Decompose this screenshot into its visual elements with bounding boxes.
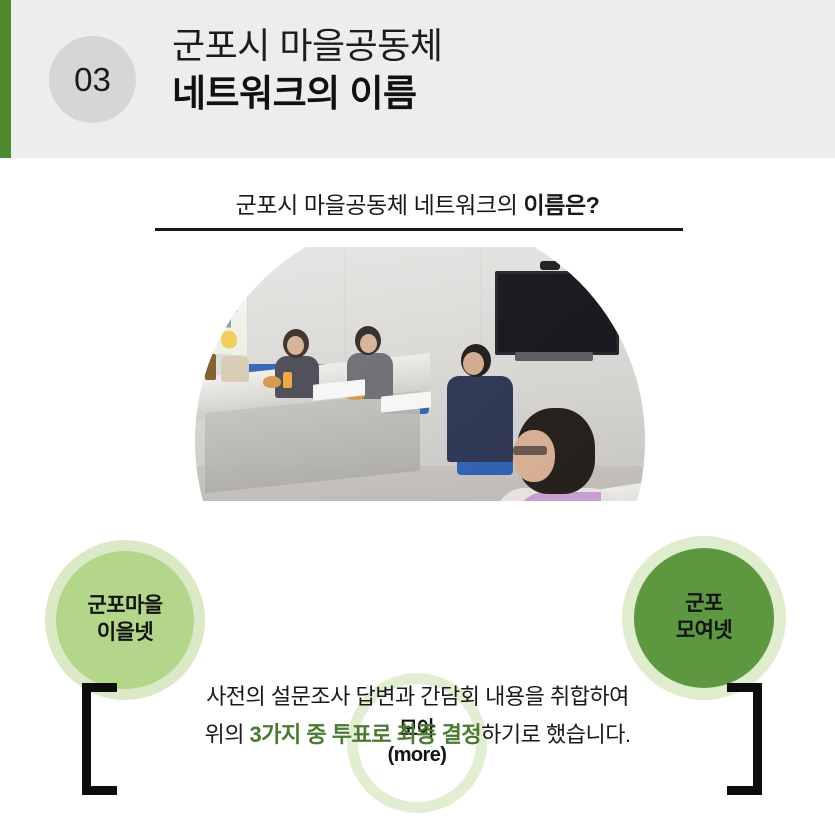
bracket-right-icon	[727, 683, 762, 795]
subtitle-prefix: 군포시 마을공동체 네트워크의	[236, 192, 524, 218]
option-left-line2: 이을넷	[88, 620, 163, 647]
footer-line-1: 사전의 설문조사 답변과 간담회 내용을 취합하여	[0, 678, 835, 716]
option-right-line1: 군포	[676, 591, 732, 618]
section-number-label: 03	[74, 63, 111, 96]
option-right-label: 군포 모여넷	[676, 591, 732, 645]
meeting-photo	[195, 247, 645, 501]
footer-note: 사전의 설문조사 답변과 간담회 내용을 취합하여 위의 3가지 중 투표로 최…	[0, 678, 835, 754]
option-right-line2: 모여넷	[676, 618, 732, 645]
footer-line2-suffix: 하기로 했습니다.	[481, 722, 630, 747]
subtitle-block: 군포시 마을공동체 네트워크의 이름은?	[0, 186, 835, 220]
subtitle-emphasis: 이름은?	[523, 192, 599, 218]
header-title-group: 군포시 마을공동체 네트워크의 이름	[172, 22, 442, 118]
page-title-line1: 군포시 마을공동체	[172, 22, 442, 70]
meeting-photo-circle	[195, 247, 645, 501]
footer-line2-prefix: 위의	[204, 722, 249, 747]
option-left[interactable]: 군포마을 이을넷	[56, 551, 194, 689]
section-number-badge: 03	[49, 36, 136, 123]
photo-lighting-overlay	[195, 247, 645, 501]
slide-body: 군포시 마을공동체 네트워크의 이름은?	[0, 158, 835, 835]
footer-line-2: 위의 3가지 중 투표로 최종 결정하기로 했습니다.	[0, 716, 835, 754]
option-left-line1: 군포마을	[88, 593, 163, 620]
option-right[interactable]: 군포 모여넷	[634, 548, 774, 688]
subtitle-underline-rule	[155, 228, 683, 231]
bracket-left-icon	[82, 683, 117, 795]
option-left-label: 군포마을 이을넷	[88, 593, 163, 647]
page-title-line2: 네트워크의 이름	[172, 70, 442, 118]
footer-line2-highlight: 3가지 중 투표로 최종 결정	[250, 722, 482, 747]
slide-header: 03 군포시 마을공동체 네트워크의 이름	[0, 0, 835, 158]
subtitle-text: 군포시 마을공동체 네트워크의 이름은?	[236, 192, 600, 218]
header-accent-bar	[0, 0, 11, 158]
meeting-photo-scene	[195, 247, 645, 501]
